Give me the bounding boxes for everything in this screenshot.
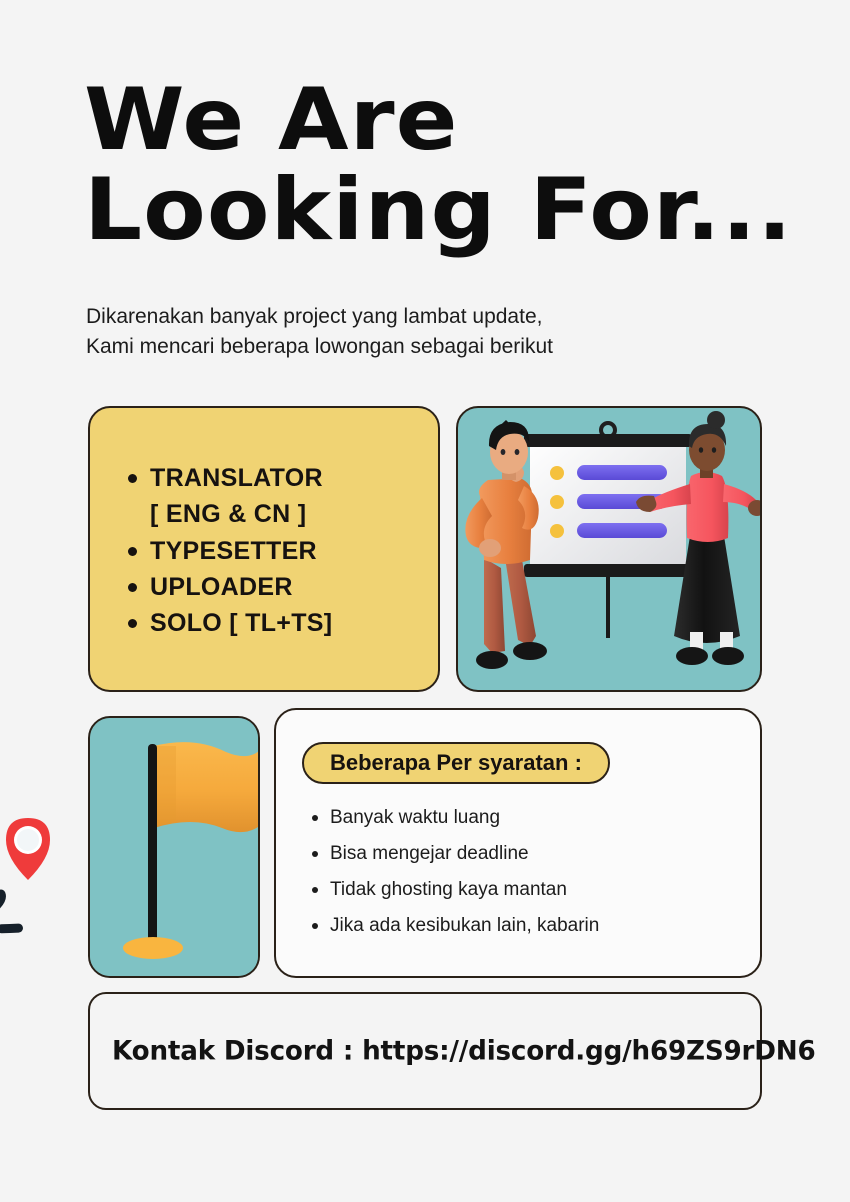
map-pin-icon — [6, 818, 50, 880]
poster-canvas: We Are Looking For... Dikarenakan banyak… — [0, 0, 850, 1202]
woman-hair-bun — [707, 411, 725, 429]
list-item: UPLOADER — [124, 569, 422, 605]
discord-contact-link[interactable]: Kontak Discord : https://discord.gg/h69Z… — [112, 1036, 816, 1067]
list-item: Banyak waktu luang — [310, 808, 744, 827]
woman-eye-right — [712, 447, 716, 453]
subtitle: Dikarenakan banyak project yang lambat u… — [86, 302, 726, 362]
subtitle-line-1: Dikarenakan banyak project yang lambat u… — [86, 302, 726, 332]
board-bar — [577, 465, 667, 480]
board-dot-icon — [550, 524, 564, 538]
woman-eye-left — [699, 447, 703, 453]
list-item: [ ENG & CN ] — [124, 496, 422, 532]
dashed-route-icon — [0, 883, 20, 929]
job-positions-list: TRANSLATOR [ ENG & CN ] TYPESETTER UPLOA… — [124, 460, 422, 641]
board-bar — [577, 523, 667, 538]
board-dot-icon — [550, 495, 564, 509]
flag-shade — [154, 746, 176, 828]
list-item: Tidak ghosting kaya mantan — [310, 880, 744, 899]
man-leg-left — [484, 558, 505, 653]
presentation-illustration-card — [456, 406, 762, 692]
list-item: TRANSLATOR — [124, 460, 422, 496]
board-stand-icon — [606, 576, 610, 638]
headline-line-1: We Are — [84, 78, 826, 162]
contact-card: Kontak Discord : https://discord.gg/h69Z… — [88, 992, 762, 1110]
list-item: Bisa mengejar deadline — [310, 844, 744, 863]
man-eye-right — [515, 449, 520, 455]
flag-illustration-clip — [88, 716, 260, 978]
board-top-rail — [524, 434, 692, 447]
board-bottom-rail — [524, 564, 692, 577]
flag-illustration-card — [88, 716, 260, 978]
woman-shoe-right — [712, 647, 744, 665]
man-shoe-left — [476, 651, 508, 669]
page-title: We Are Looking For... — [84, 78, 784, 253]
list-item: SOLO [ TL+TS] — [124, 605, 422, 641]
headline-line-2: Looking For... — [84, 168, 826, 252]
list-item: TYPESETTER — [124, 533, 422, 569]
flag-illustration — [90, 718, 262, 980]
flag-pole — [148, 744, 157, 944]
list-item: Jika ada kesibukan lain, kabarin — [310, 916, 744, 935]
requirements-badge: Beberapa Per syaratan : — [302, 742, 610, 784]
man-eye-left — [501, 449, 506, 455]
woman-top — [687, 472, 729, 542]
man-hand-left — [479, 539, 501, 557]
presentation-illustration — [458, 408, 760, 690]
requirements-list: Banyak waktu luang Bisa mengejar deadlin… — [310, 808, 744, 952]
woman-shoe-left — [676, 647, 708, 665]
man-shoe-right — [513, 642, 547, 660]
job-positions-card: TRANSLATOR [ ENG & CN ] TYPESETTER UPLOA… — [88, 406, 440, 692]
board-dot-icon — [550, 466, 564, 480]
subtitle-line-2: Kami mencari beberapa lowongan sebagai b… — [86, 332, 726, 362]
requirements-card: Beberapa Per syaratan : Banyak waktu lua… — [274, 708, 762, 978]
